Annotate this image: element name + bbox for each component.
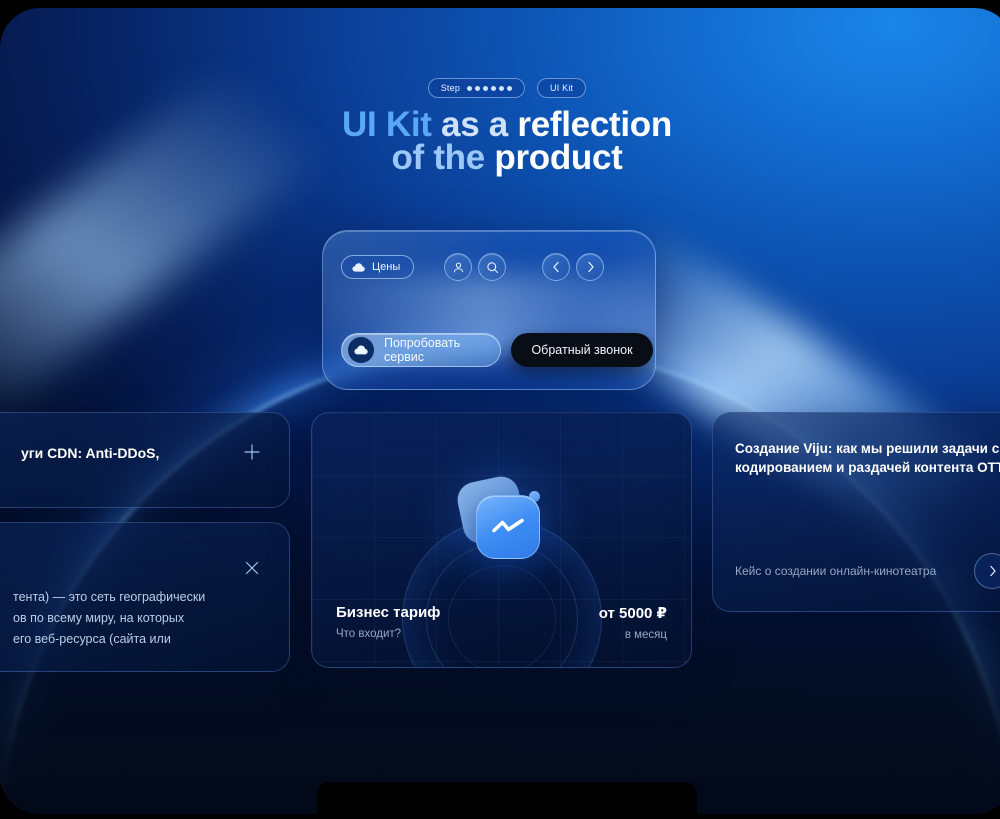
hero-canvas: Step UI Kit UI Kit as a reflection of th…	[0, 8, 1000, 814]
search-icon	[486, 261, 499, 274]
prices-button[interactable]: Цены	[341, 255, 414, 279]
glass-control-panel: Цены	[322, 230, 656, 390]
cloud-icon	[348, 337, 374, 363]
callback-label: Обратный звонок	[531, 343, 632, 357]
accordion-line-2: ов по всему миру, на которых	[13, 608, 269, 629]
panel-toolbar: Цены	[341, 253, 637, 281]
carousel-prev-button[interactable]	[542, 253, 570, 281]
panel-actions: Попробовать сервис Обратный звонок	[341, 333, 637, 367]
ui-kit-pill[interactable]: UI Kit	[537, 78, 586, 98]
case-study-card[interactable]: Создание Viju: как мы решили задачи с хр…	[712, 412, 1000, 612]
tariff-subtitle[interactable]: Что входит?	[336, 628, 440, 640]
title-word-of-the: of the	[391, 138, 484, 177]
ui-kit-pill-label: UI Kit	[550, 83, 573, 93]
accordion-card-collapsed[interactable]: уги CDN: Anti-DDoS,	[0, 412, 290, 508]
tariff-card-left: Бизнес тариф Что входит?	[336, 604, 440, 640]
accordion-card-expanded-text: тента) — это сеть географически ов по вс…	[13, 587, 269, 650]
tariff-card-footer: Бизнес тариф Что входит? от 5000 ₽ в мес…	[336, 604, 667, 641]
tariff-price: от 5000 ₽	[599, 604, 667, 622]
close-icon[interactable]	[243, 559, 261, 577]
carousel-next-button[interactable]	[576, 253, 604, 281]
user-icon	[452, 261, 465, 274]
tariff-title: Бизнес тариф	[336, 604, 440, 621]
accordion-line-1: тента) — это сеть географически	[13, 587, 269, 608]
accordion-line-3: его веб-ресурса (сайта или	[13, 629, 269, 650]
step-pill[interactable]: Step	[428, 78, 525, 98]
bottom-notch	[317, 782, 697, 814]
plus-icon[interactable]	[243, 443, 261, 461]
accordion-card-expanded[interactable]: тента) — это сеть географически ов по вс…	[0, 522, 290, 672]
chevron-left-icon	[552, 261, 561, 273]
page-title-line-1: UI Kit as a reflection	[0, 108, 1000, 141]
page-title: UI Kit as a reflection of the product	[0, 108, 1000, 174]
tariff-period: в месяц	[599, 629, 667, 641]
try-service-button[interactable]: Попробовать сервис	[341, 333, 501, 367]
chevron-right-icon	[586, 261, 595, 273]
search-button[interactable]	[478, 253, 506, 281]
analytics-chart-icon	[460, 477, 544, 561]
prices-button-label: Цены	[372, 261, 400, 273]
case-study-title: Создание Viju: как мы решили задачи с хр…	[735, 439, 1000, 477]
cloud-icon	[352, 263, 365, 272]
tariff-card-right: от 5000 ₽ в месяц	[599, 604, 667, 641]
user-account-button[interactable]	[444, 253, 472, 281]
panel-icon-buttons	[444, 253, 604, 281]
card-row: уги CDN: Anti-DDoS, тента) — это сеть ге…	[0, 412, 1000, 672]
accordion-card-collapsed-text: уги CDN: Anti-DDoS,	[21, 445, 219, 461]
title-word-product: product	[485, 138, 623, 177]
screenshot-stage: Step UI Kit UI Kit as a reflection of th…	[0, 0, 1000, 819]
tariff-card[interactable]: Бизнес тариф Что входит? от 5000 ₽ в мес…	[311, 412, 692, 668]
try-service-label: Попробовать сервис	[384, 336, 484, 364]
step-progress-dots	[467, 86, 512, 91]
callback-button[interactable]: Обратный звонок	[511, 333, 653, 367]
top-pill-row: Step UI Kit	[0, 78, 1000, 98]
chevron-right-icon	[988, 565, 997, 577]
step-pill-label: Step	[441, 83, 460, 93]
page-title-line-2: of the product	[0, 141, 1000, 174]
case-study-subtitle: Кейс о создании онлайн-кинотеатра	[735, 563, 999, 580]
